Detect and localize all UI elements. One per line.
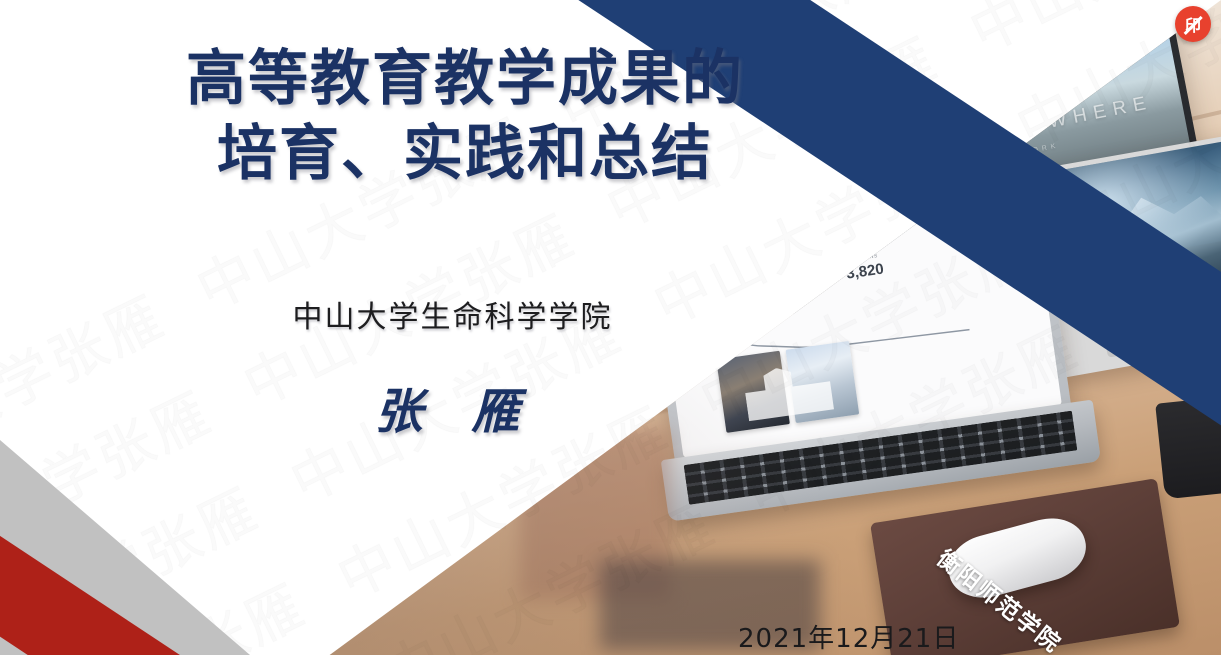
title-line-2: 培育、实践和总结 xyxy=(0,117,930,192)
metric-item: BOUNCE 227 xyxy=(990,233,1018,261)
mountain-graphic xyxy=(1051,165,1221,269)
browser-url-bar xyxy=(686,195,922,236)
presentation-title-slide: WORK HARD ANYWHERE BEST PLACES TO WORK xyxy=(0,0,1221,655)
laptop: USERS 206,165 SESSIONS 3,820 BOUNCE 227 xyxy=(641,162,1099,518)
metric-item: SESSIONS 3,820 xyxy=(844,252,885,282)
page-title: 高等教育教学成果的 培育、实践和总结 xyxy=(0,42,930,192)
desk-cup xyxy=(1155,397,1221,500)
presentation-date: 2021年12月21日 xyxy=(738,618,959,655)
affiliation-subtitle: 中山大学生命科学学院 xyxy=(0,292,905,336)
author-name: 张 雁 xyxy=(0,372,910,442)
webcam-icon xyxy=(948,0,954,4)
stamp-badge-icon[interactable]: 印 xyxy=(1175,6,1211,42)
title-line-1: 高等教育教学成果的 xyxy=(186,44,744,114)
